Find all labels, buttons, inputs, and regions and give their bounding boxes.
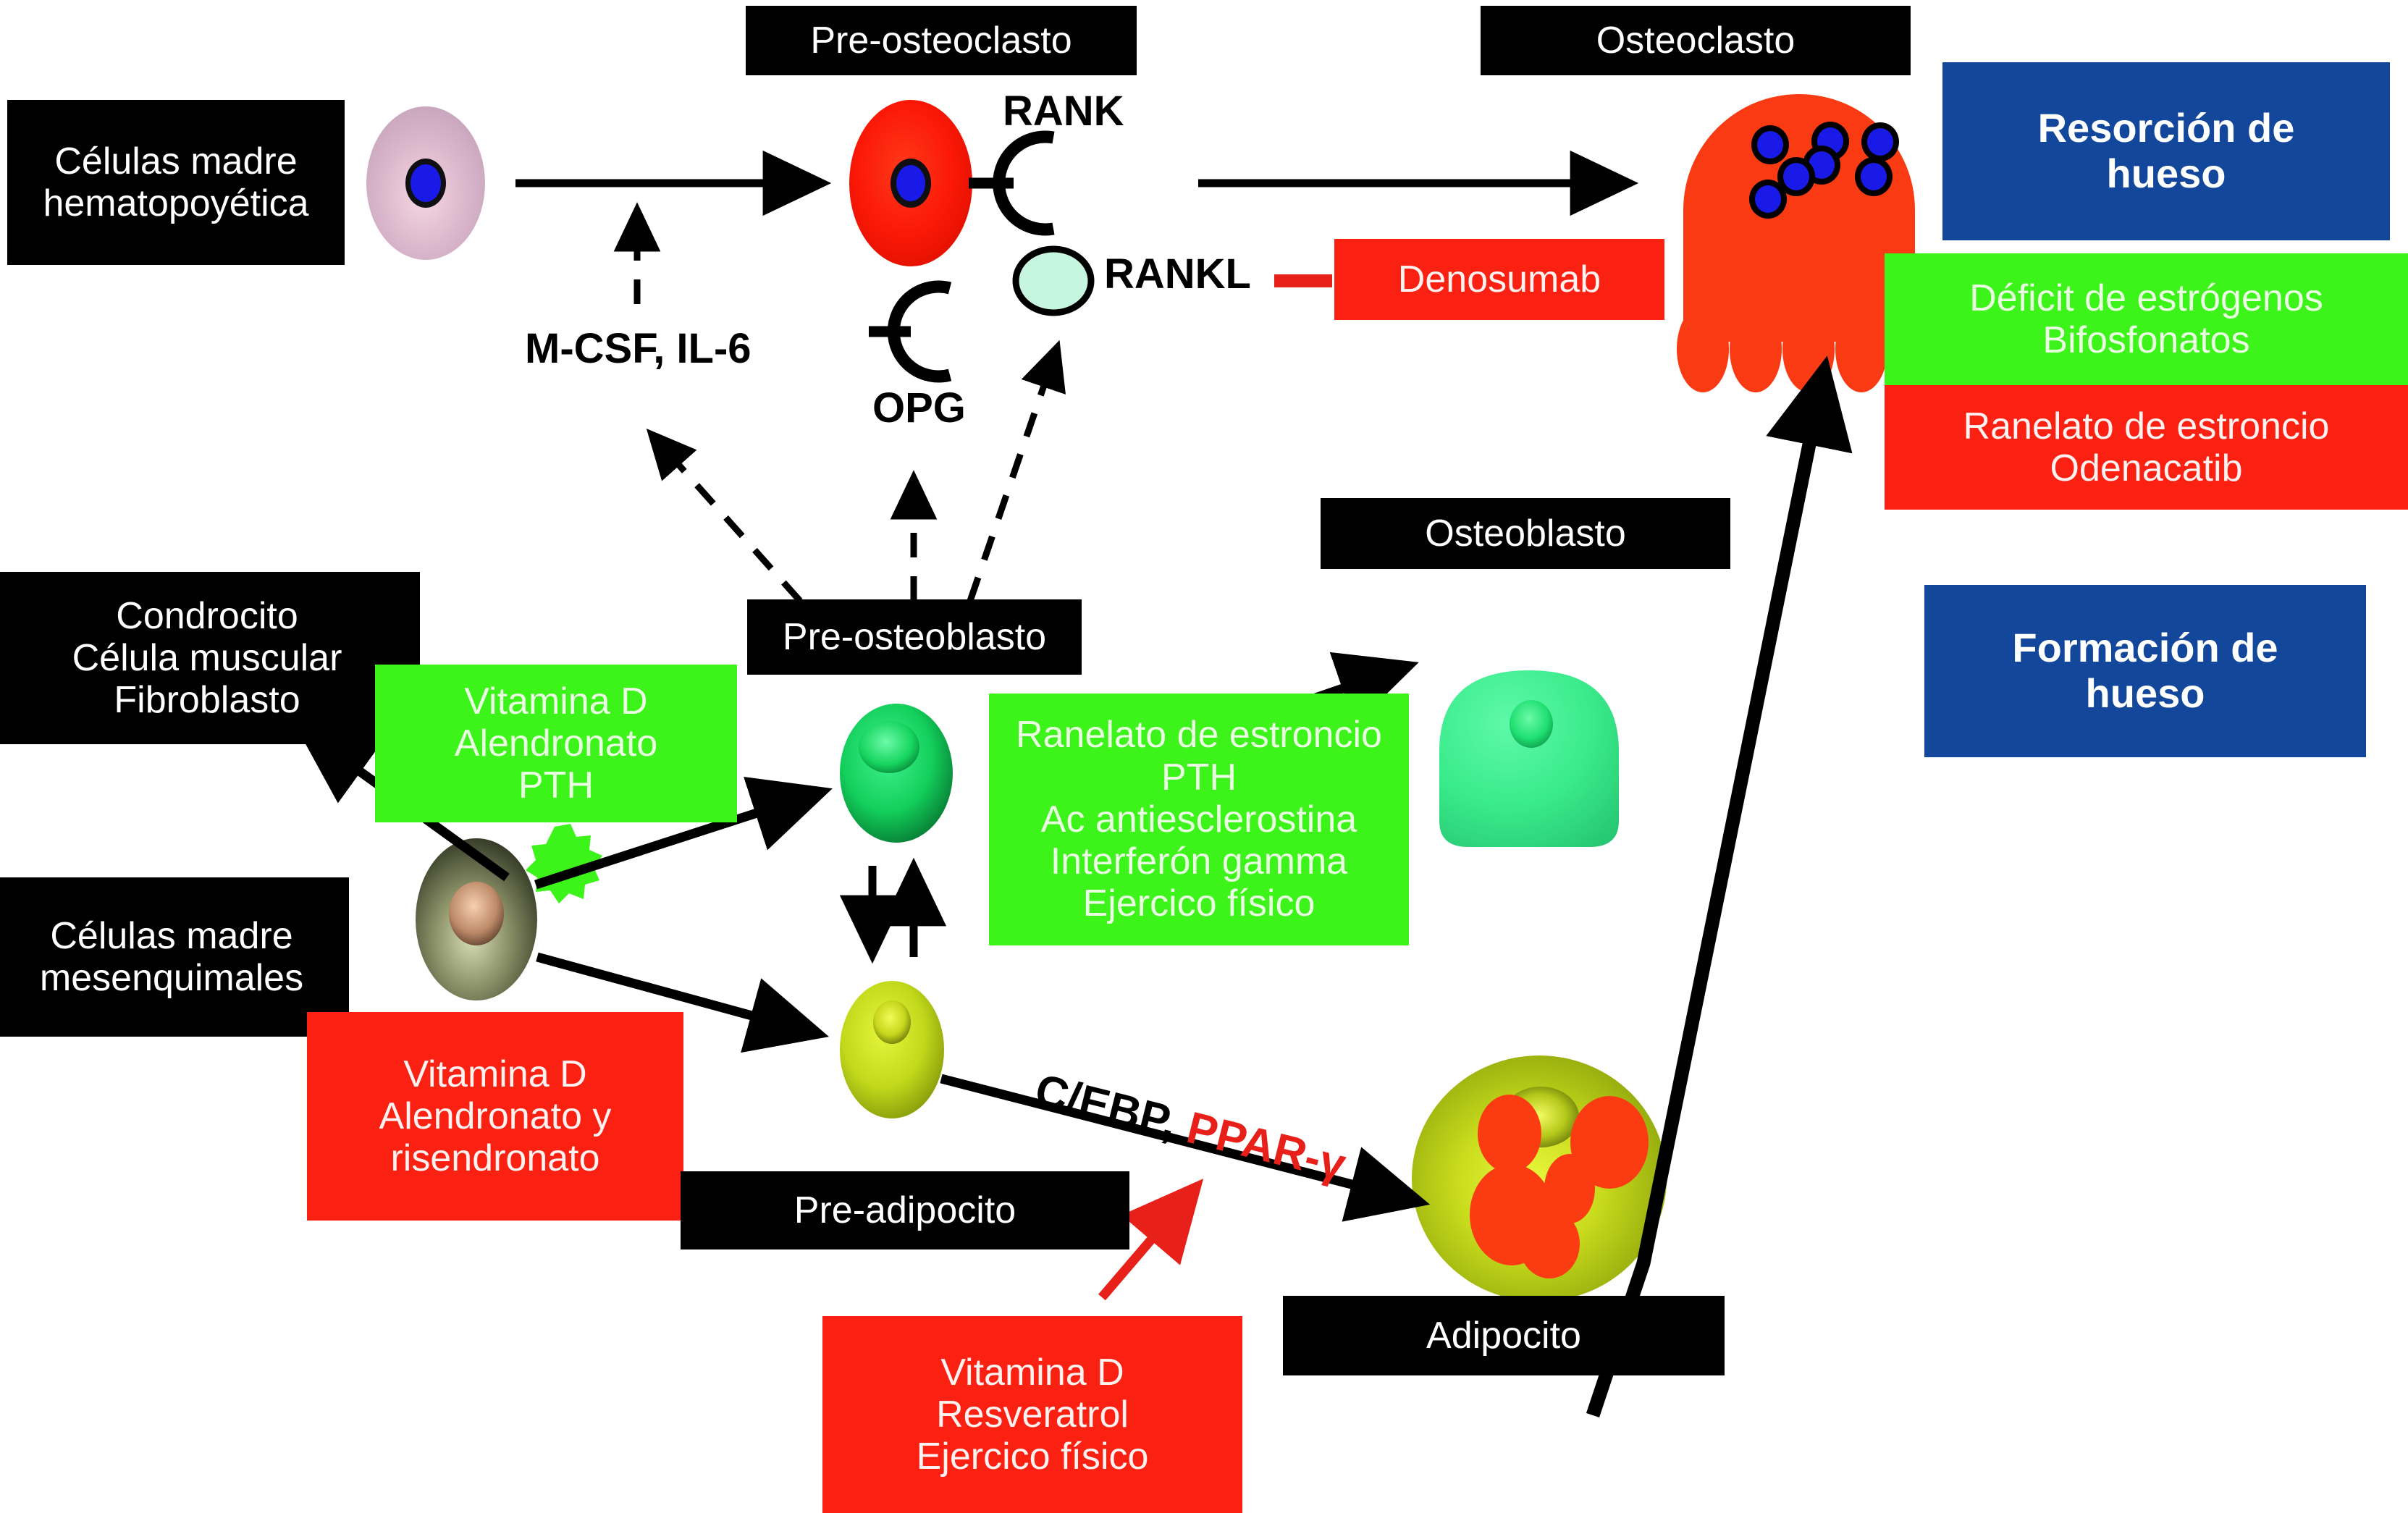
- label-adipocyte: Adipocito: [1283, 1296, 1725, 1375]
- treatment-line: PTH: [1161, 756, 1237, 798]
- treatment-box-estrogen-deficit[interactable]: Déficit de estrógenos Bifosfonatos: [1885, 253, 2408, 385]
- label-line: mesenquimales: [40, 957, 303, 999]
- label-rank: RANK: [1003, 87, 1124, 135]
- treatment-line: Resveratrol: [936, 1394, 1129, 1436]
- label-line: Células madre: [50, 915, 292, 957]
- treatment-line: Ranelato de estroncio: [1963, 405, 2330, 447]
- treatment-box-strontium-odanacatib[interactable]: Ranelato de estroncio Odenacatib: [1885, 385, 2408, 510]
- treatment-line: Denosumab: [1398, 258, 1601, 300]
- label-pre-adipocyte: Pre-adipocito: [681, 1171, 1129, 1249]
- label-osteoblast: Osteoblasto: [1321, 498, 1730, 569]
- pre-adipocyte-cell-glyph: [840, 981, 944, 1118]
- treatment-box-denosumab[interactable]: Denosumab: [1334, 239, 1664, 320]
- arrow-preosteoblast-to-rankl: [970, 347, 1057, 601]
- outcome-line: Formación de: [2012, 625, 2278, 671]
- label-line: Adipocito: [1426, 1315, 1581, 1357]
- outcome-line: hueso: [2107, 151, 2226, 197]
- label-line: Fibroblasto: [114, 679, 300, 721]
- adipocyte-cell-glyph: [1412, 1055, 1667, 1302]
- treatment-line: Vitamina D: [940, 1352, 1124, 1394]
- treatment-line: Bifosfonatos: [2042, 319, 2249, 361]
- mesenchymal-stem-cell-glyph: [416, 838, 537, 1000]
- rankl-ligand-icon: [1016, 249, 1091, 313]
- treatment-box-vitd-resveratrol-exercise[interactable]: Vitamina D Resveratrol Ejercico físico: [822, 1316, 1242, 1513]
- label-line: Osteoclasto: [1596, 20, 1796, 62]
- hematopoietic-stem-cell-glyph: [366, 106, 485, 260]
- label-line: Pre-adipocito: [794, 1189, 1016, 1231]
- treatment-box-strontium-pth-sclerostin[interactable]: Ranelato de estroncio PTH Ac antiesclero…: [989, 694, 1409, 945]
- rank-receptor-icon: [969, 137, 1053, 229]
- label-line: Célula muscular: [72, 637, 342, 679]
- label-line: Pre-osteoblasto: [783, 616, 1046, 658]
- treatment-line: Interferón gamma: [1051, 840, 1347, 882]
- outcome-line: hueso: [2086, 671, 2205, 717]
- treatment-line: Ejercico físico: [917, 1436, 1149, 1478]
- label-mcsf-il6: M-CSF, IL-6: [525, 324, 752, 373]
- treatment-box-vitd-alendronate-pth[interactable]: Vitamina D Alendronato PTH: [375, 665, 737, 822]
- treatment-line: Déficit de estrógenos: [1969, 277, 2323, 319]
- treatment-line: Odenacatib: [2050, 447, 2243, 489]
- label-osteoclast: Osteoclasto: [1481, 6, 1911, 75]
- label-opg: OPG: [872, 384, 966, 432]
- label-rankl: RANKL: [1104, 250, 1251, 298]
- treatment-line: PTH: [518, 764, 594, 806]
- treatment-line: Alendronato: [455, 722, 657, 764]
- treatment-line: Ac antiesclerostina: [1041, 798, 1357, 840]
- treatment-line: Ejercico físico: [1083, 882, 1315, 924]
- outcome-box-bone-formation: Formación de hueso: [1924, 585, 2366, 757]
- pre-osteoblast-cell-glyph: [840, 704, 953, 843]
- label-line: hematopoyética: [43, 182, 308, 224]
- pre-osteoclast-cell-glyph: [849, 100, 972, 266]
- outcome-line: Resorción de: [2038, 106, 2295, 151]
- label-line: Pre-osteoclasto: [810, 20, 1072, 62]
- treatment-line: Alendronato y: [379, 1095, 612, 1137]
- label-pre-osteoblast: Pre-osteoblasto: [747, 599, 1082, 675]
- opg-receptor-icon: [869, 287, 950, 376]
- treatment-line: Vitamina D: [464, 680, 647, 722]
- label-line: Condrocito: [116, 595, 298, 637]
- label-line: Células madre: [54, 140, 297, 182]
- treatment-box-vitd-alendronate-risedronate[interactable]: Vitamina D Alendronato y risendronato: [307, 1012, 683, 1221]
- osteoblast-cell-glyph: [1439, 670, 1619, 847]
- label-chondrocyte-muscle-fibroblast: Condrocito Célula muscular Fibroblasto: [0, 572, 420, 744]
- outcome-box-bone-resorption: Resorción de hueso: [1942, 62, 2390, 240]
- label-mesenchymal-stem-cells: Células madre mesenquimales: [0, 877, 349, 1037]
- arrow-preosteoblast-to-mcsf: [652, 434, 800, 601]
- treatment-line: Vitamina D: [403, 1053, 586, 1095]
- diagram-canvas: Células madre hematopoyética Pre-osteocl…: [0, 0, 2408, 1513]
- label-hematopoietic-stem-cell: Células madre hematopoyética: [7, 100, 345, 265]
- treatment-line: Ranelato de estroncio: [1016, 714, 1382, 756]
- label-line: Osteoblasto: [1425, 513, 1626, 555]
- treatment-line: risendronato: [390, 1137, 599, 1179]
- label-pre-osteoclast: Pre-osteoclasto: [746, 6, 1137, 75]
